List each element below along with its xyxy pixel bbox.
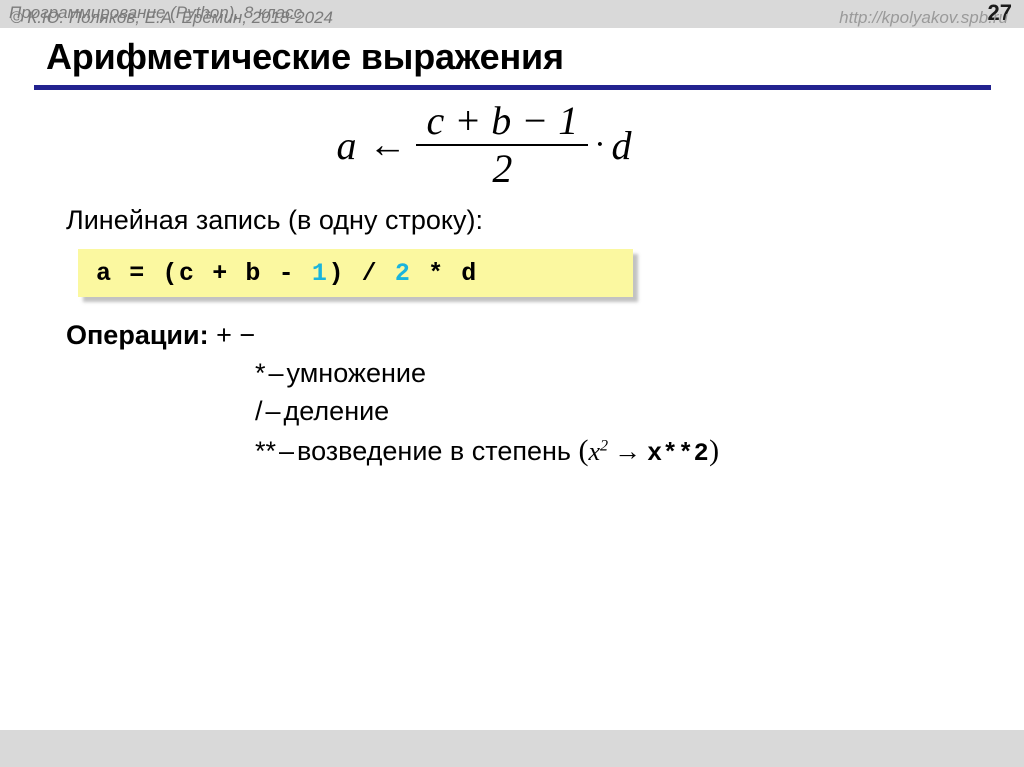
multiplication-dot-icon: · [594,126,605,164]
operation-dash-1: – [266,396,281,426]
operation-description-power: возведение в степень [297,436,571,466]
formula-left-variable: a [336,122,356,169]
code-snippet-box: a = (c + b - 1) / 2 * d [78,249,633,297]
footer-url: http://kpolyakov.spb.ru [839,8,1008,28]
math-formula: a ← c + b − 1 2 · d [0,100,1024,190]
operation-description-multiply: умножение [287,358,426,388]
operations-label: Операции: [66,320,209,350]
power-example-base: x [588,437,600,466]
operator-symbol-multiply: * [255,358,266,388]
operation-item-multiply: *–умножение [255,358,426,389]
formula-fraction: c + b − 1 2 [416,100,588,190]
footer-bar [0,730,1024,767]
code-part-3: * d [411,259,477,288]
footer-copyright: © К.Ю. Поляков, Е.А. Ерёмин, 2018-2024 [10,8,333,28]
slide-root: { "header": { "subject": "Программирован… [0,0,1024,767]
power-example-code: x**2 [647,439,709,468]
operation-item-divide: /–деление [255,396,389,427]
code-part-2: ) / [328,259,394,288]
operations-heading: Операции: + − [66,320,255,351]
operator-symbol-divide: / [255,396,263,426]
power-example-close-paren: ) [709,434,719,467]
fraction-numerator: c + b − 1 [416,100,588,144]
code-part-1: a = (c + b - [96,259,312,288]
formula-right-variable: d [612,122,632,169]
power-example-arrow-icon: → [614,436,641,466]
power-example-exponent: 2 [600,437,608,454]
code-number-2: 2 [395,259,412,288]
power-example-math: x2 [588,437,608,466]
fraction-denominator: 2 [482,146,522,190]
operation-description-divide: деление [284,396,390,426]
operation-dash-0: – [269,358,284,388]
operation-item-power: **–возведение в степень (x2→x**2) [255,434,719,468]
operator-symbol-power: ** [255,436,276,466]
page-title: Арифметические выражения [46,36,564,78]
code-snippet-text: a = (c + b - 1) / 2 * d [96,259,478,288]
assignment-arrow-icon: ← [368,126,406,164]
operation-dash-2: – [279,436,294,466]
power-example-open-paren: ( [578,434,588,467]
code-number-1: 1 [312,259,329,288]
operations-inline-symbols: + − [216,320,255,350]
linear-notation-label: Линейная запись (в одну строку): [66,205,483,236]
title-underline-rule [34,85,991,90]
